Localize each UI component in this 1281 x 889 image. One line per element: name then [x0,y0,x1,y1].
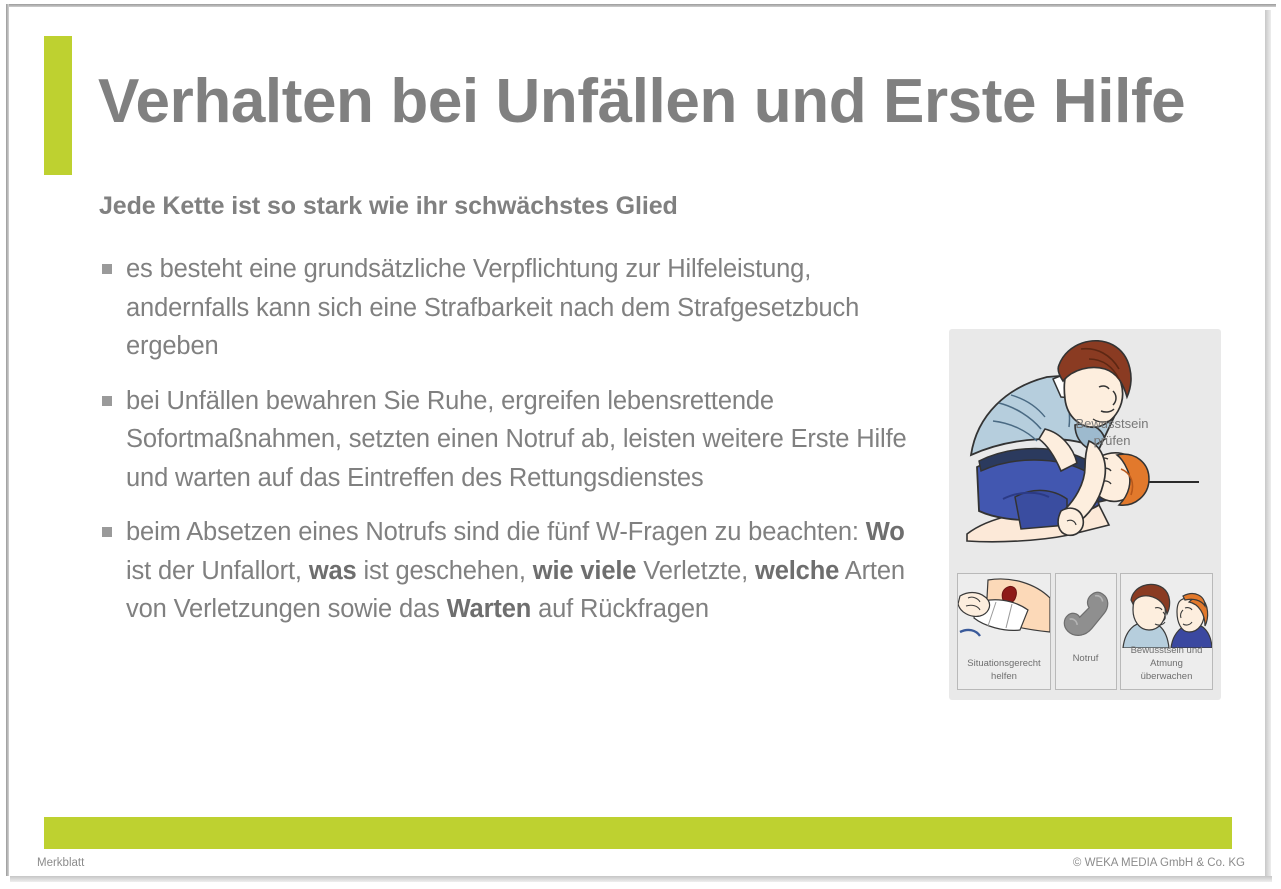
list-item: bei Unfällen bewahren Sie Ruhe, ergreife… [100,382,930,498]
thumb-caption: Bewusstsein und Atmung überwachen [1123,644,1210,683]
page-title: Verhalten bei Unfällen und Erste Hilfe [98,69,1238,134]
list-item-text: beim Absetzen eines Notrufs sind die fün… [126,518,905,623]
emphasis-text: Wo [866,518,905,546]
bullet-square-icon [102,527,112,537]
thumb-caption-line1: Bewusstsein und [1123,644,1210,657]
bullet-list: es besteht eine grundsätzliche Verpflich… [100,250,930,645]
plain-text: ist der Unfallort, [126,557,309,585]
slide-frame-top [8,4,1276,7]
thumb-caption-line2: Atmung überwachen [1123,657,1210,683]
thumb-emergency-call: Notruf [1055,573,1117,690]
slide-subtitle: Jede Kette ist so stark wie ihr schwächs… [99,192,678,221]
plain-text: auf Rückfragen [531,595,709,623]
cpr-check-consciousness-illustration [949,329,1221,569]
footer-copyright: © WEKA MEDIA GmbH & Co. KG [1073,857,1245,869]
telephone-handset-icon [1056,574,1116,652]
thumb-bandage: Situationsgerecht helfen [957,573,1051,690]
thumbnail-row: Situationsgerecht helfen [957,573,1213,690]
bullet-square-icon [102,264,112,274]
illustration-caption-line2: prüfen [1057,432,1167,449]
list-item: es besteht eine grundsätzliche Verpflich… [100,250,930,366]
slide-canvas: Verhalten bei Unfällen und Erste Hilfe J… [0,0,1281,889]
emphasis-text: welche [755,557,839,585]
list-item-text: es besteht eine grundsätzliche Verpflich… [126,255,859,360]
thumb-caption-line1: Situationsgerecht [960,657,1048,670]
list-item: beim Absetzen eines Notrufs sind die fün… [100,513,930,629]
plain-text: Verletzte, [636,557,755,585]
emphasis-text: wie viele [533,557,637,585]
plain-text: beim Absetzen eines Notrufs sind die fün… [126,518,866,546]
footer-accent-bar [44,817,1232,849]
list-item-text: bei Unfällen bewahren Sie Ruhe, ergreife… [126,387,907,492]
thumb-monitor: Bewusstsein und Atmung überwachen [1120,573,1213,690]
two-faces-icon [1121,574,1212,648]
bullet-square-icon [102,396,112,406]
plain-text: bei Unfällen bewahren Sie Ruhe, ergreife… [126,387,907,492]
footer-document-type: Merkblatt [37,857,84,869]
slide-frame-bottom [10,876,1272,882]
emphasis-text: was [309,557,357,585]
bandage-wound-icon [958,574,1050,648]
thumb-caption: Situationsgerecht helfen [960,657,1048,683]
title-accent-bar [44,36,72,175]
illustration-caption: Bewusstsein prüfen [1057,415,1167,449]
thumb-caption-line1: Notruf [1058,652,1114,665]
illustration-caption-line1: Bewusstsein [1057,415,1167,432]
plain-text: es besteht eine grundsätzliche Verpflich… [126,255,859,360]
plain-text: ist geschehen, [357,557,533,585]
thumb-caption-line2: helfen [960,670,1048,683]
slide-frame-right [1265,10,1271,878]
first-aid-illustration-panel: Bewusstsein prüfen [949,329,1221,700]
emphasis-text: Warten [447,595,532,623]
thumb-caption: Notruf [1058,652,1114,665]
slide-frame-left [6,4,9,876]
